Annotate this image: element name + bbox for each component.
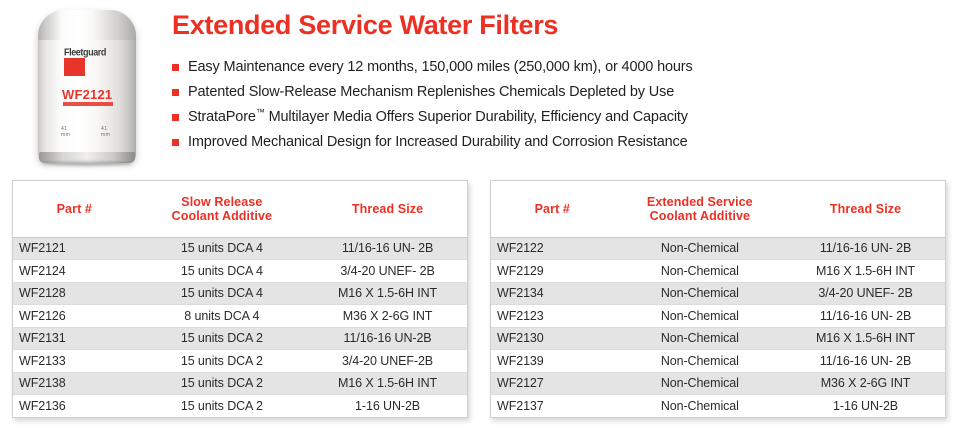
- filter-part-number-label: WF2121: [62, 87, 124, 102]
- cell-thread-size: M16 X 1.5-6H INT: [786, 260, 945, 283]
- column-header-part-number: Part #: [491, 181, 614, 237]
- list-item: Patented Slow-Release Mechanism Replenis…: [172, 83, 952, 108]
- filter-drop-shadow: [42, 161, 132, 166]
- cell-part-number: WF2128: [13, 282, 136, 305]
- cell-coolant-additive: 15 units DCA 4: [136, 260, 309, 283]
- column-header-line-1: Extended Service: [618, 195, 783, 209]
- cell-coolant-additive: Non-Chemical: [614, 237, 787, 260]
- bullet-square-icon: [172, 64, 179, 71]
- cell-thread-size: M16 X 1.5-6H INT: [308, 372, 467, 395]
- feature-text: StrataPore™ Multilayer Media Offers Supe…: [188, 108, 688, 127]
- list-item: Improved Mechanical Design for Increased…: [172, 133, 952, 158]
- cell-part-number: WF2126: [13, 305, 136, 328]
- cell-coolant-additive: 8 units DCA 4: [136, 305, 309, 328]
- cell-thread-size: M36 X 2-6G INT: [308, 305, 467, 328]
- cell-coolant-additive: Non-Chemical: [614, 395, 787, 418]
- cell-thread-size: M36 X 2-6G INT: [786, 372, 945, 395]
- table-row: WF2123Non-Chemical11/16-16 UN- 2B: [491, 305, 945, 328]
- table-slow-release-coolant-additive: Part # Slow Release Coolant Additive Thr…: [12, 180, 468, 418]
- cell-part-number: WF2133: [13, 350, 136, 373]
- cell-part-number: WF2121: [13, 237, 136, 260]
- cell-part-number: WF2139: [491, 350, 614, 373]
- cell-coolant-additive: 15 units DCA 2: [136, 350, 309, 373]
- cell-part-number: WF2127: [491, 372, 614, 395]
- table-body-right: WF2122Non-Chemical11/16-16 UN- 2BWF2129N…: [491, 237, 945, 417]
- table-row: WF213315 units DCA 23/4-20 UNEF-2B: [13, 350, 467, 373]
- cell-part-number: WF2134: [491, 282, 614, 305]
- cell-thread-size: 11/16-16 UN- 2B: [786, 350, 945, 373]
- cell-coolant-additive: Non-Chemical: [614, 282, 787, 305]
- cell-thread-size: 3/4-20 UNEF- 2B: [786, 282, 945, 305]
- cell-part-number: WF2131: [13, 327, 136, 350]
- column-header-coolant-additive: Slow Release Coolant Additive: [136, 181, 309, 237]
- cell-thread-size: 1-16 UN-2B: [786, 395, 945, 418]
- feature-bullet-list: Easy Maintenance every 12 months, 150,00…: [172, 58, 952, 158]
- cell-thread-size: 11/16-16 UN- 2B: [308, 237, 467, 260]
- cell-part-number: WF2122: [491, 237, 614, 260]
- filter-nut-marking-left: 41 mm: [61, 126, 77, 132]
- cell-part-number: WF2137: [491, 395, 614, 418]
- cell-part-number: WF2123: [491, 305, 614, 328]
- filter-top-rim: [38, 10, 136, 40]
- cell-part-number: WF2130: [491, 327, 614, 350]
- cell-thread-size: 11/16-16 UN- 2B: [786, 305, 945, 328]
- feature-text: Easy Maintenance every 12 months, 150,00…: [188, 58, 693, 77]
- cell-thread-size: 11/16-16 UN-2B: [308, 327, 467, 350]
- fleetguard-logo-square: [64, 58, 85, 76]
- cell-thread-size: 1-16 UN-2B: [308, 395, 467, 418]
- cell-coolant-additive: Non-Chemical: [614, 305, 787, 328]
- bullet-square-icon: [172, 114, 179, 121]
- bullet-square-icon: [172, 89, 179, 96]
- table-row: WF2129Non-ChemicalM16 X 1.5-6H INT: [491, 260, 945, 283]
- column-header-coolant-additive: Extended Service Coolant Additive: [614, 181, 787, 237]
- product-spec-sheet: Fleetguard WF2121 41 mm 41 mm Extended S…: [0, 0, 958, 430]
- column-header-thread-size: Thread Size: [308, 181, 467, 237]
- feature-text-remainder: Multilayer Media Offers Superior Durabil…: [265, 109, 688, 125]
- table-row: WF212815 units DCA 4M16 X 1.5-6H INT: [13, 282, 467, 305]
- table-row: WF2130Non-ChemicalM16 X 1.5-6H INT: [491, 327, 945, 350]
- table-row: WF212115 units DCA 411/16-16 UN- 2B: [13, 237, 467, 260]
- feature-text: Improved Mechanical Design for Increased…: [188, 133, 688, 152]
- table-body-left: WF212115 units DCA 411/16-16 UN- 2BWF212…: [13, 237, 467, 417]
- product-image-water-filter: Fleetguard WF2121 41 mm 41 mm: [22, 2, 152, 172]
- cell-thread-size: 11/16-16 UN- 2B: [786, 237, 945, 260]
- table-header-row: Part # Extended Service Coolant Additive…: [491, 181, 945, 237]
- table-row: WF21268 units DCA 4M36 X 2-6G INT: [13, 305, 467, 328]
- table-row: WF213615 units DCA 21-16 UN-2B: [13, 395, 467, 418]
- cell-coolant-additive: Non-Chemical: [614, 327, 787, 350]
- list-item: Easy Maintenance every 12 months, 150,00…: [172, 58, 952, 83]
- list-item: StrataPore™ Multilayer Media Offers Supe…: [172, 108, 952, 133]
- spec-table: Part # Extended Service Coolant Additive…: [491, 181, 945, 417]
- fleetguard-wordmark: Fleetguard: [64, 46, 112, 58]
- column-header-thread-size: Thread Size: [786, 181, 945, 237]
- table-row: WF2137Non-Chemical1-16 UN-2B: [491, 395, 945, 418]
- table-row: WF213815 units DCA 2M16 X 1.5-6H INT: [13, 372, 467, 395]
- cell-coolant-additive: 15 units DCA 2: [136, 327, 309, 350]
- table-header: Part # Slow Release Coolant Additive Thr…: [13, 181, 467, 237]
- cell-coolant-additive: 15 units DCA 4: [136, 282, 309, 305]
- column-header-line-2: Coolant Additive: [140, 209, 305, 223]
- spec-table: Part # Slow Release Coolant Additive Thr…: [13, 181, 467, 417]
- filter-label-accent-bar: [63, 102, 113, 106]
- bullet-square-icon: [172, 139, 179, 146]
- table-row: WF2122Non-Chemical11/16-16 UN- 2B: [491, 237, 945, 260]
- cell-thread-size: 3/4-20 UNEF-2B: [308, 350, 467, 373]
- table-row: WF2139Non-Chemical11/16-16 UN- 2B: [491, 350, 945, 373]
- cell-coolant-additive: 15 units DCA 2: [136, 395, 309, 418]
- cell-thread-size: M16 X 1.5-6H INT: [308, 282, 467, 305]
- cell-coolant-additive: 15 units DCA 2: [136, 372, 309, 395]
- table-row: WF212415 units DCA 43/4-20 UNEF- 2B: [13, 260, 467, 283]
- table-row: WF213115 units DCA 211/16-16 UN-2B: [13, 327, 467, 350]
- cell-part-number: WF2124: [13, 260, 136, 283]
- trademark-symbol: ™: [256, 107, 265, 117]
- cell-part-number: WF2136: [13, 395, 136, 418]
- page-title: Extended Service Water Filters: [172, 10, 558, 41]
- cell-coolant-additive: 15 units DCA 4: [136, 237, 309, 260]
- table-row: WF2127Non-ChemicalM36 X 2-6G INT: [491, 372, 945, 395]
- feature-text: Patented Slow-Release Mechanism Replenis…: [188, 83, 674, 102]
- column-header-part-number: Part #: [13, 181, 136, 237]
- cell-coolant-additive: Non-Chemical: [614, 372, 787, 395]
- cell-coolant-additive: Non-Chemical: [614, 260, 787, 283]
- table-header: Part # Extended Service Coolant Additive…: [491, 181, 945, 237]
- column-header-line-1: Slow Release: [140, 195, 305, 209]
- cell-part-number: WF2138: [13, 372, 136, 395]
- stratapore-brand: StrataPore: [188, 109, 256, 125]
- filter-nut-marking-right: 41 mm: [101, 126, 117, 132]
- cell-coolant-additive: Non-Chemical: [614, 350, 787, 373]
- cell-thread-size: 3/4-20 UNEF- 2B: [308, 260, 467, 283]
- column-header-line-2: Coolant Additive: [618, 209, 783, 223]
- table-extended-service-coolant-additive: Part # Extended Service Coolant Additive…: [490, 180, 946, 418]
- table-row: WF2134Non-Chemical3/4-20 UNEF- 2B: [491, 282, 945, 305]
- cell-thread-size: M16 X 1.5-6H INT: [786, 327, 945, 350]
- table-header-row: Part # Slow Release Coolant Additive Thr…: [13, 181, 467, 237]
- cell-part-number: WF2129: [491, 260, 614, 283]
